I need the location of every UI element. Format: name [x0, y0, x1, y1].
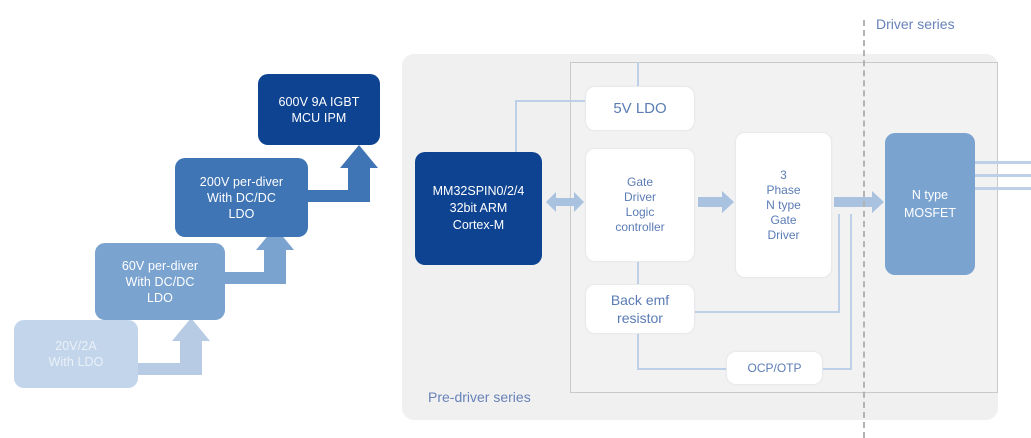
connector-right-rail-vertical-b [850, 214, 852, 370]
connector-backemf-bottom-vertical [637, 334, 639, 368]
ladder-step-600v-line-2: MCU IPM [278, 110, 359, 126]
driver-series-label: Driver series [876, 16, 955, 32]
arrow-200v-to-600v [306, 145, 378, 202]
block-gate-driver-logic-line-2: Driver [615, 190, 664, 205]
ladder-step-600v[interactable]: 600V 9A IGBT MCU IPM [258, 74, 380, 145]
ladder-step-200v-line-3: LDO [200, 206, 283, 222]
arrow-20v-to-60v [138, 318, 210, 375]
block-3phase-line-5: Driver [766, 228, 801, 243]
block-gate-driver-logic-line-4: controller [615, 220, 664, 235]
connector-mcu-to-ldo-vertical [515, 100, 517, 154]
ladder-step-60v-line-2: With DC/DC [122, 274, 198, 290]
block-gate-driver-logic-line-1: Gate [615, 175, 664, 190]
block-3phase-line-3: N type [766, 198, 801, 213]
ladder-step-200v-line-1: 200V per-diver [200, 174, 283, 190]
block-ocp-otp[interactable]: OCP/OTP [726, 351, 823, 385]
block-ocp-otp-label: OCP/OTP [747, 361, 801, 376]
block-3phase-line-2: Phase [766, 183, 801, 198]
block-3phase-line-1: 3 [766, 168, 801, 183]
block-gate-driver-logic[interactable]: Gate Driver Logic controller [585, 148, 695, 262]
connector-backemf-to-ocp-horizontal [637, 368, 727, 370]
ladder-step-20v-line-1: 20V/2A [49, 338, 104, 354]
connector-backemf-right-horizontal [694, 311, 840, 313]
ladder-step-60v[interactable]: 60V per-diver With DC/DC LDO [95, 243, 225, 320]
ladder-step-20v-line-2: With LDO [49, 354, 104, 370]
block-3phase-line-4: Gate [766, 213, 801, 228]
block-gate-driver-logic-line-3: Logic [615, 205, 664, 220]
block-5v-ldo[interactable]: 5V LDO [585, 86, 695, 131]
block-3phase-gate-driver[interactable]: 3 Phase N type Gate Driver [735, 132, 832, 278]
connector-gatelogic-to-backemf [637, 262, 639, 284]
connector-ocp-right-horizontal [822, 368, 852, 370]
block-mosfet-line-1: N type [904, 186, 956, 204]
ladder-step-600v-line-1: 600V 9A IGBT [278, 94, 359, 110]
diagram-canvas: 20V/2A With LDO 60V per-diver With DC/DC… [0, 0, 1031, 438]
ladder-step-200v[interactable]: 200V per-diver With DC/DC LDO [175, 158, 308, 237]
block-5v-ldo-label: 5V LDO [613, 100, 666, 117]
connector-right-rail-vertical-a [838, 214, 840, 313]
ladder-step-60v-line-1: 60V per-diver [122, 258, 198, 274]
driver-series-divider [863, 20, 865, 438]
block-mosfet-line-2: MOSFET [904, 204, 956, 222]
connector-top-to-ldo [637, 62, 639, 87]
ladder-step-200v-line-2: With DC/DC [200, 190, 283, 206]
mcu-line-2: 32bit ARM [433, 200, 525, 217]
block-n-type-mosfet[interactable]: N type MOSFET [885, 133, 975, 275]
mcu-line-3: Cortex-M [433, 217, 525, 234]
block-back-emf-line-1: Back emf [611, 291, 669, 309]
mcu-block[interactable]: MM32SPIN0/2/4 32bit ARM Cortex-M [415, 152, 542, 265]
ladder-step-60v-line-3: LDO [122, 290, 198, 306]
block-back-emf-resistor[interactable]: Back emf resistor [585, 284, 695, 334]
block-back-emf-line-2: resistor [611, 309, 669, 327]
ladder-step-20v[interactable]: 20V/2A With LDO [14, 320, 138, 388]
pre-driver-series-label: Pre-driver series [428, 389, 531, 405]
mcu-line-1: MM32SPIN0/2/4 [433, 183, 525, 200]
connector-mcu-to-ldo-horizontal [515, 100, 587, 102]
